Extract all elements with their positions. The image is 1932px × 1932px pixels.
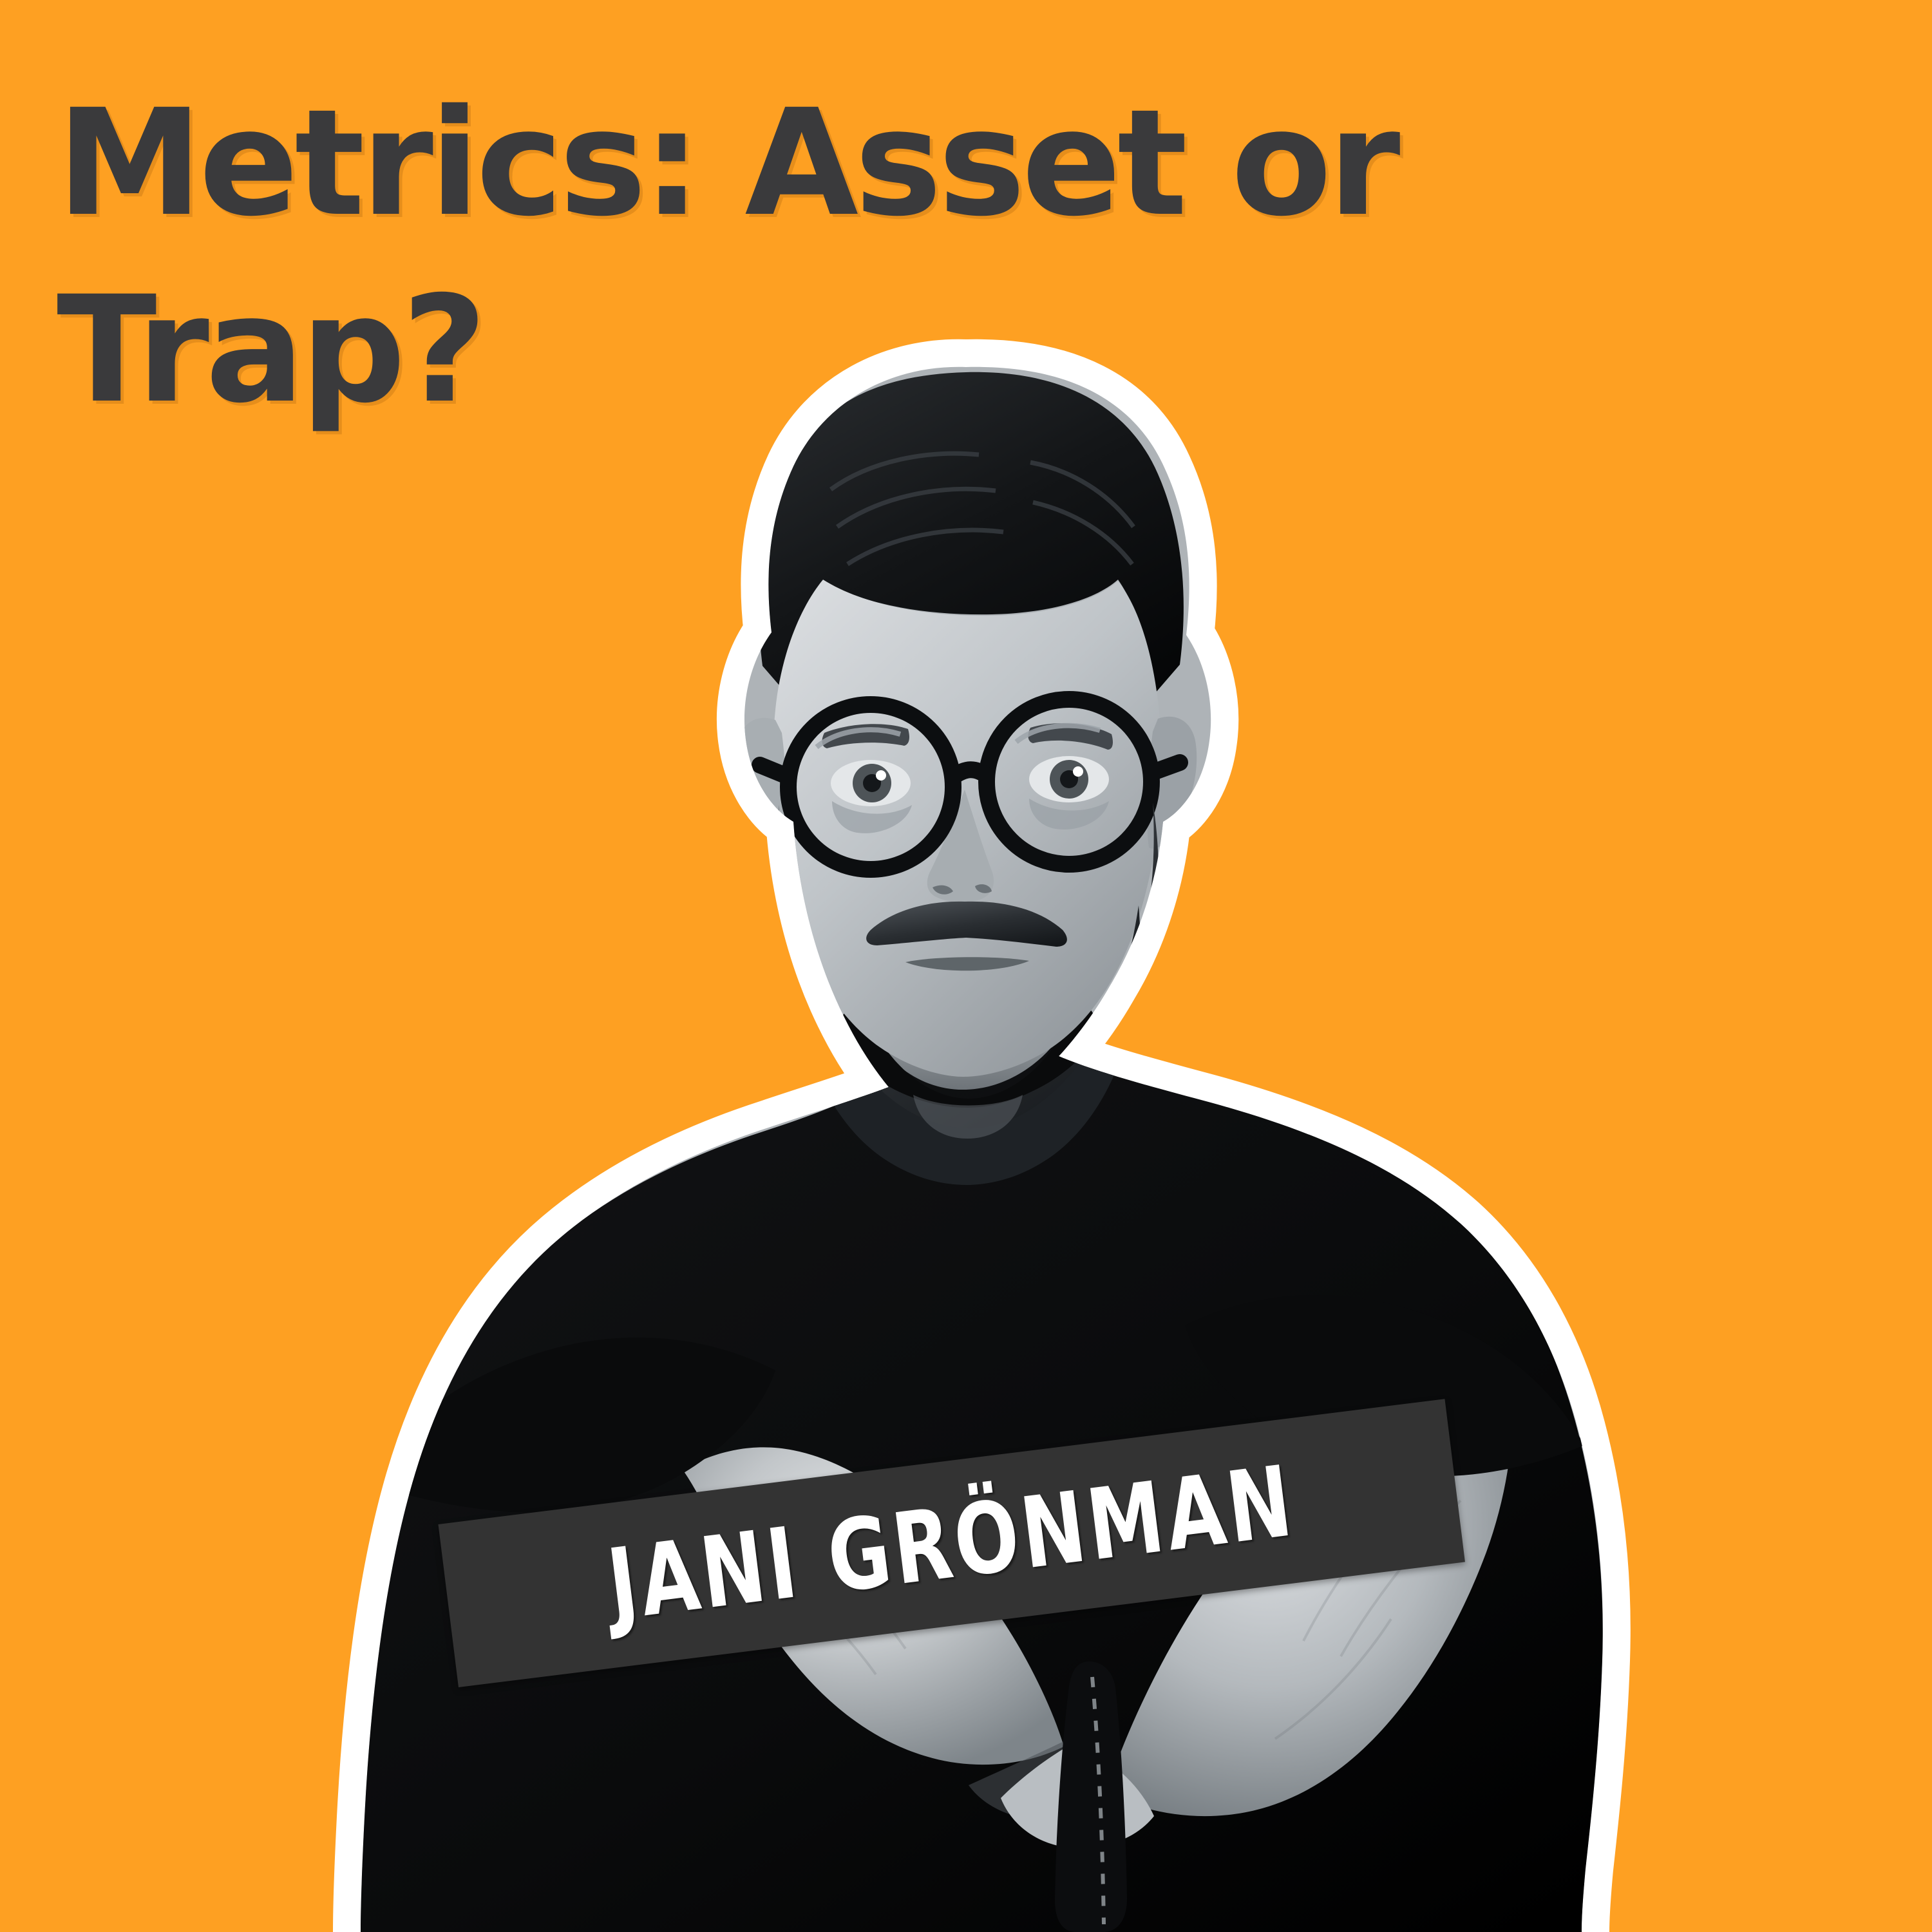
eye-catchlight-right (1073, 766, 1083, 777)
portrait-cutout (0, 0, 1932, 1932)
eye-catchlight-left (876, 770, 886, 781)
episode-cover-canvas: Metrics: Asset or Trap? (0, 0, 1932, 1932)
portrait-svg (0, 0, 1932, 1932)
portrait-content (0, 0, 1932, 1932)
